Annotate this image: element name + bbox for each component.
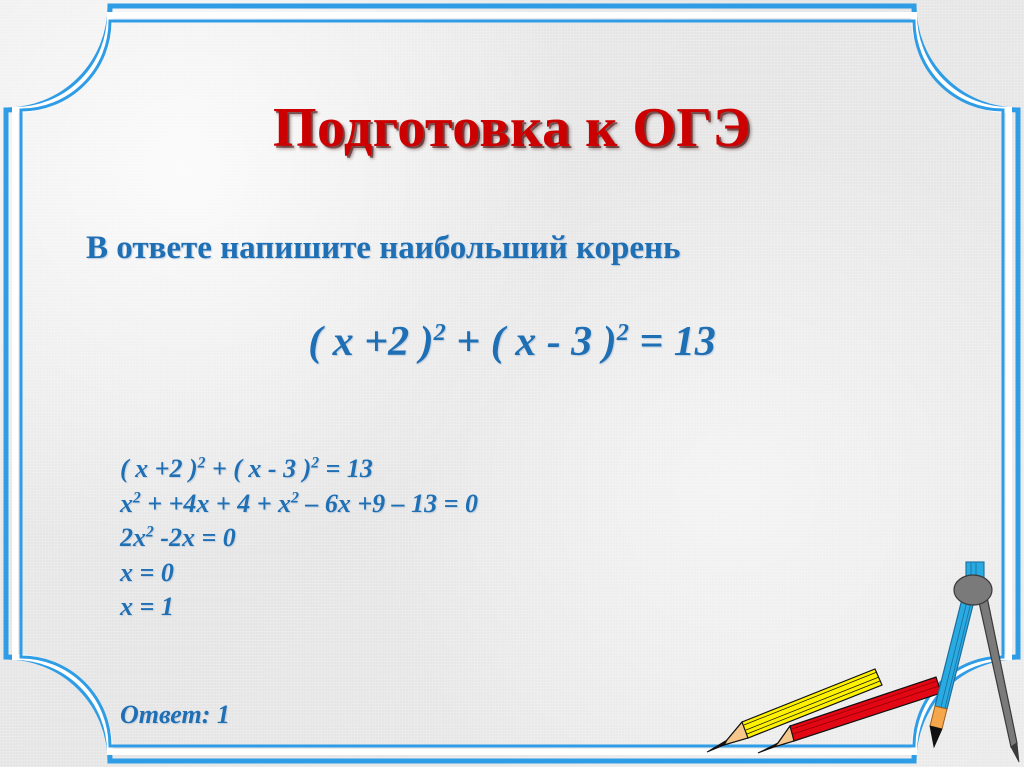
- solution-exponent: 2: [133, 489, 141, 506]
- solution-exponent: 2: [311, 454, 319, 471]
- solution-segment: 2x: [120, 523, 146, 552]
- yellow-pencil-icon: [707, 669, 882, 752]
- main-equation-exponent-1: 2: [434, 319, 446, 346]
- red-pencil-icon: [758, 677, 941, 753]
- solution-segment: + +4x + 4 + x: [141, 489, 291, 518]
- answer-value: 1: [217, 700, 230, 729]
- main-equation: ( x +2 )2 + ( x - 3 )2 = 13: [0, 318, 1024, 366]
- page-title: Подготовка к ОГЭ: [0, 96, 1024, 160]
- answer-line: Ответ: 1: [120, 700, 230, 730]
- main-equation-lhs-second: + ( x - 3 ): [456, 319, 616, 365]
- solution-line: x2 + +4x + 4 + x2 – 6x +9 – 13 = 0: [120, 487, 478, 522]
- solution-segment: ( x +2 ): [120, 454, 198, 483]
- solution-segment: – 6x +9 – 13 = 0: [299, 489, 478, 518]
- solution-segment: + ( x - 3 ): [205, 454, 311, 483]
- solution-line: x = 1: [120, 590, 478, 625]
- answer-label: Ответ:: [120, 700, 210, 729]
- main-equation-lhs-first: ( x +2 ): [308, 319, 433, 365]
- stationery-illustration: [680, 557, 1024, 767]
- solution-segment: x: [120, 489, 133, 518]
- solution-segment: 0: [223, 523, 236, 552]
- solution-segment: x = 0: [120, 558, 174, 587]
- compass-icon: [930, 562, 1019, 762]
- main-equation-rhs: = 13: [639, 319, 715, 365]
- solution-exponent: 2: [291, 489, 299, 506]
- task-instruction: В ответе напишите наибольший корень: [86, 230, 681, 267]
- solution-exponent: 2: [146, 524, 154, 541]
- slide-canvas: Подготовка к ОГЭ В ответе напишите наибо…: [0, 0, 1024, 767]
- solution-line: ( x +2 )2 + ( x - 3 )2 = 13: [120, 452, 478, 487]
- solution-segment: -2x =: [154, 523, 223, 552]
- main-equation-exponent-2: 2: [617, 319, 629, 346]
- solution-segment: x = 1: [120, 592, 174, 621]
- solution-segment: = 13: [319, 454, 373, 483]
- solution-steps: ( x +2 )2 + ( x - 3 )2 = 13 x2 + +4x + 4…: [120, 452, 478, 625]
- solution-line: 2x2 -2x = 0: [120, 521, 478, 556]
- solution-line: x = 0: [120, 556, 478, 591]
